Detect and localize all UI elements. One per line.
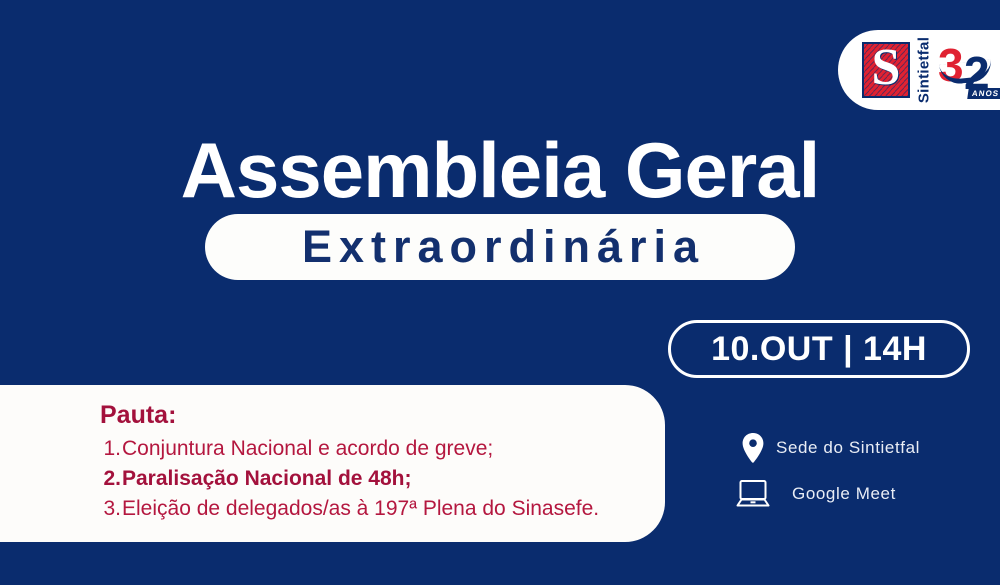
platform-label: Google Meet (792, 484, 896, 504)
agenda-item: 2. Paralisação Nacional de 48h; (100, 464, 645, 494)
agenda-item: 1. Conjuntura Nacional e acordo de greve… (100, 434, 645, 464)
sintietfal-monogram-icon: S (862, 42, 910, 98)
info-list: Sede do Sintietfal Google Meet (732, 425, 992, 517)
agenda-title: Pauta: (100, 398, 645, 432)
agenda-item-number: 1. (100, 434, 121, 464)
date-time-badge: 10.OUT | 14H (668, 320, 970, 378)
agenda-panel: Pauta: 1. Conjuntura Nacional e acordo d… (0, 385, 665, 542)
agenda-item-text: Paralisação Nacional de 48h; (122, 464, 411, 494)
platform-row: Google Meet (732, 471, 992, 517)
agenda-item: 3. Eleição de delegados/as à 197ª Plena … (100, 494, 645, 524)
logo-lockup: S Sintietfal 3 2 ANOS (862, 38, 1000, 102)
poster-subtitle: Extraordinária (295, 223, 705, 271)
agenda-item-number: 2. (100, 464, 121, 494)
agenda-item-text: Eleição de delegados/as à 197ª Plena do … (122, 494, 599, 524)
subtitle-pill: Extraordinária (205, 214, 795, 280)
laptop-icon (732, 478, 774, 510)
agenda-item-text: Conjuntura Nacional e acordo de greve; (122, 434, 493, 464)
agenda-content: Pauta: 1. Conjuntura Nacional e acordo d… (100, 398, 645, 524)
map-pin-icon (732, 433, 774, 463)
poster-title: Assembleia Geral (0, 126, 1000, 214)
logo-wordmark-text: Sintietfal (916, 37, 933, 103)
location-label: Sede do Sintietfal (776, 438, 920, 458)
logo-badge: S Sintietfal 3 2 ANOS (838, 30, 1000, 110)
logo-wordmark: Sintietfal (914, 41, 934, 99)
date-time-text: 10.OUT | 14H (711, 331, 927, 367)
anniversary-mark: 3 2 ANOS (938, 40, 1000, 100)
monogram-letter: S (862, 40, 910, 96)
anniversary-label: ANOS (967, 88, 1000, 99)
agenda-item-number: 3. (100, 494, 121, 524)
location-row: Sede do Sintietfal (732, 425, 992, 471)
poster-canvas: S Sintietfal 3 2 ANOS Assembleia Geral E… (0, 0, 1000, 585)
